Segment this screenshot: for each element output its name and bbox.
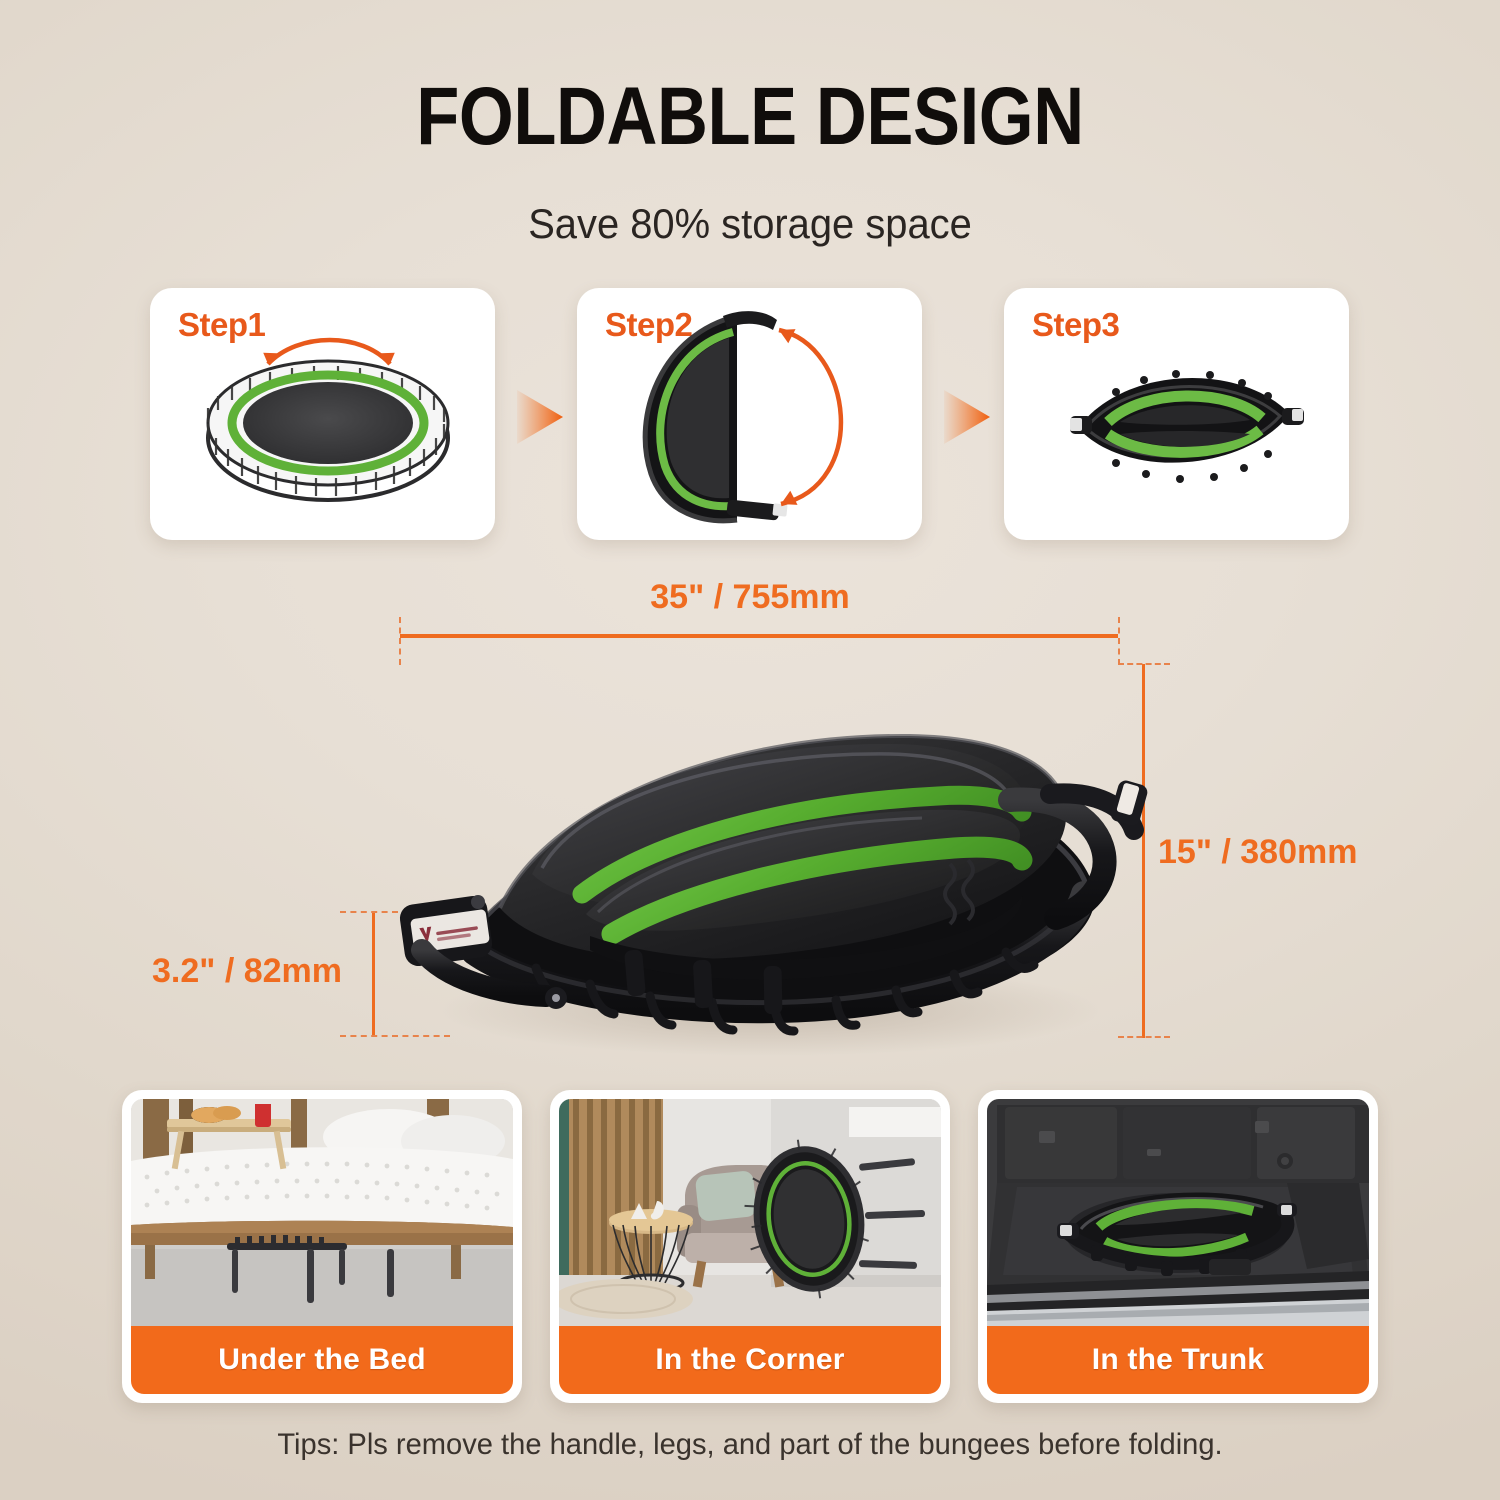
step-1-illustration [150,288,495,540]
scenario-card-under-the-bed: Under the Bed [122,1090,522,1403]
tips-note: Tips: Pls remove the handle, legs, and p… [23,1428,1478,1462]
step-card-3: Step3 [1004,288,1349,540]
page-title: FOLDABLE DESIGN [105,76,1395,158]
step-card-2: Step2 [577,288,922,540]
scenario-caption-under-the-bed: Under the Bed [131,1326,513,1394]
steps-row: Step1 [0,288,1500,548]
infographic-canvas: FOLDABLE DESIGN Save 80% storage space S… [0,0,1500,1500]
scenario-caption-in-the-trunk: In the Trunk [987,1326,1369,1394]
step-card-1: Step1 [150,288,495,540]
dimension-thickness-label: 3.2" / 82mm [152,952,342,991]
chevron-right-icon [511,386,569,448]
scenario-card-in-the-trunk: In the Trunk [978,1090,1378,1403]
page-subtitle: Save 80% storage space [38,200,1463,248]
step-2-illustration [577,288,922,540]
dimension-width-label: 35" / 755mm [0,578,1500,617]
scenario-photo-car-trunk [987,1099,1369,1326]
dimension-width-rule [400,634,1118,638]
folded-trampoline-hero-image [350,650,1170,1070]
scenario-caption-in-the-corner: In the Corner [559,1326,941,1394]
storage-scenarios-row: Under the Bed [0,1090,1500,1410]
scenario-photo-bedroom [131,1099,513,1326]
scenario-card-in-the-corner: In the Corner [550,1090,950,1403]
chevron-right-icon [938,386,996,448]
step-3-illustration [1004,288,1349,540]
scenario-photo-living-room [559,1099,941,1326]
dimension-height-label: 15" / 380mm [1158,833,1357,872]
